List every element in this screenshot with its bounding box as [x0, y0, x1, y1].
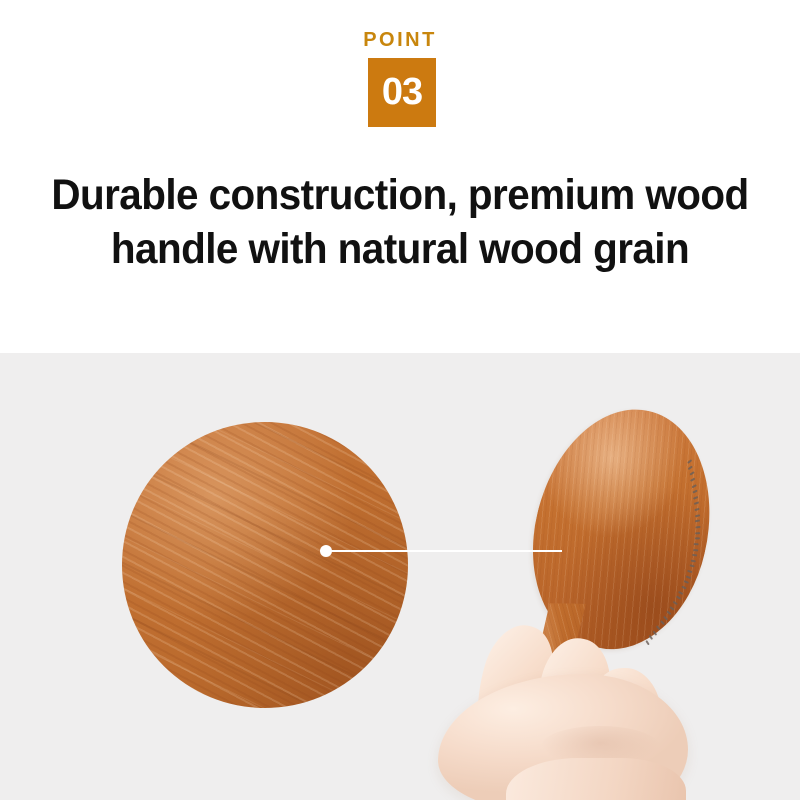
bristle-pin — [688, 465, 693, 469]
bristle-pin — [683, 580, 688, 583]
page-title: Durable construction, premium wood handl… — [24, 168, 776, 276]
bristle-pin — [695, 514, 700, 517]
wood-grain-texture-coarse — [122, 422, 408, 708]
bristle-pin — [691, 559, 696, 561]
bristle-pin — [681, 586, 686, 590]
bristle-pin — [689, 471, 694, 475]
bristle-pin — [692, 490, 697, 494]
bristle-pin — [686, 575, 691, 578]
point-number-text: 03 — [382, 73, 422, 111]
bristle-pin — [687, 459, 692, 463]
bristle-pin — [678, 591, 683, 595]
bristle-pin — [694, 502, 699, 505]
bristle-pin — [692, 554, 697, 556]
bristle-pin — [695, 520, 700, 522]
bristle-pin — [690, 478, 695, 482]
bristle-pin — [693, 496, 698, 499]
bristle-pin — [689, 565, 694, 568]
bristle-pin — [694, 537, 699, 539]
point-label: POINT — [0, 28, 800, 52]
bristle-pin — [676, 596, 681, 600]
point-number-badge: 03 — [368, 58, 436, 127]
wood-grain-magnifier-circle — [122, 422, 408, 708]
bristle-pin — [687, 570, 692, 573]
product-feature-banner: POINT 03 Durable construction, premium w… — [0, 0, 800, 800]
bristle-pin — [695, 526, 700, 528]
bristle-pin — [695, 532, 700, 534]
product-photo-section — [0, 353, 800, 800]
bristle-pin — [693, 549, 698, 551]
callout-anchor-dot — [320, 545, 332, 557]
bristle-pin — [694, 543, 699, 545]
callout-leader-line — [330, 550, 562, 552]
headline-line-1: Durable construction, premium wood — [24, 168, 776, 222]
headline-line-2: handle with natural wood grain — [24, 222, 776, 276]
bristle-pin — [694, 508, 699, 511]
hand — [420, 608, 750, 800]
header-section: POINT 03 Durable construction, premium w… — [0, 0, 800, 353]
bristle-pin — [673, 601, 678, 605]
bristle-pin — [691, 484, 696, 488]
